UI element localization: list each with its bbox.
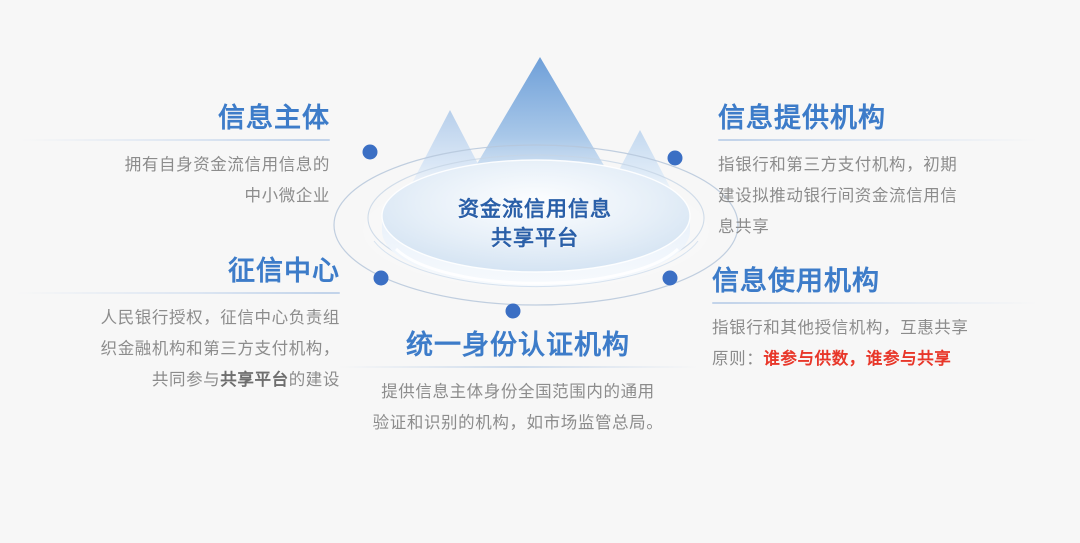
section-information-provider: 信息提供机构 指银行和第三方支付机构，初期 建设拟推动银行间资金流信用信 息共享 <box>718 103 1038 242</box>
section-body-information-subject: 拥有自身资金流信用信息的 中小微企业 <box>20 149 330 211</box>
body-line: 息共享 <box>718 211 1038 242</box>
infographic-canvas: 资金流信用信息 共享平台 信息主体 拥有自身资金流信用信息的 中小微企业 征信中… <box>0 0 1080 543</box>
heading-underline <box>338 366 698 368</box>
orbit-node <box>374 271 389 286</box>
body-line: 原则：谁参与供数，谁参与共享 <box>712 343 1038 374</box>
section-unified-identity-authentication: 统一身份认证机构 提供信息主体身份全国范围内的通用 验证和识别的机构，如市场监管… <box>338 330 698 438</box>
section-information-user: 信息使用机构 指银行和其他授信机构，互惠共享 原则：谁参与供数，谁参与共享 <box>712 266 1038 374</box>
platform-title-line2: 共享平台 <box>300 224 770 253</box>
section-body-information-provider: 指银行和第三方支付机构，初期 建设拟推动银行间资金流信用信 息共享 <box>718 149 1038 242</box>
section-information-subject: 信息主体 拥有自身资金流信用信息的 中小微企业 <box>20 103 330 211</box>
section-heading-unified-identity-authentication: 统一身份认证机构 <box>338 330 698 361</box>
platform-title-line1: 资金流信用信息 <box>458 198 612 221</box>
body-line: 指银行和第三方支付机构，初期 <box>718 149 1038 180</box>
section-body-unified-identity-authentication: 提供信息主体身份全国范围内的通用 验证和识别的机构，如市场监管总局。 <box>338 376 698 438</box>
orbit-node <box>506 304 521 319</box>
body-text-segment: 的建设 <box>289 370 340 389</box>
orbit-node <box>668 151 683 166</box>
body-line: 指银行和其他授信机构，互惠共享 <box>712 312 1038 343</box>
body-line: 人民银行授权，征信中心负责组 <box>16 302 340 333</box>
section-heading-information-user: 信息使用机构 <box>712 266 1038 297</box>
body-line: 中小微企业 <box>20 180 330 211</box>
central-platform-graphic: 资金流信用信息 共享平台 <box>300 35 770 335</box>
section-body-information-user: 指银行和其他授信机构，互惠共享 原则：谁参与供数，谁参与共享 <box>712 312 1038 374</box>
body-line: 共同参与共享平台的建设 <box>16 364 340 395</box>
body-line: 提供信息主体身份全国范围内的通用 <box>338 376 698 407</box>
heading-underline <box>16 292 340 294</box>
platform-title: 资金流信用信息 共享平台 <box>300 195 770 254</box>
section-credit-reference-center: 征信中心 人民银行授权，征信中心负责组 织金融机构和第三方支付机构， 共同参与共… <box>16 256 340 395</box>
body-text-highlight: 谁参与供数，谁参与共享 <box>763 349 951 368</box>
body-text-emphasis: 共享平台 <box>220 370 288 389</box>
heading-underline <box>718 139 1038 141</box>
heading-underline <box>20 139 330 141</box>
body-line: 拥有自身资金流信用信息的 <box>20 149 330 180</box>
section-heading-credit-reference-center: 征信中心 <box>16 256 340 287</box>
body-text-segment: 共同参与 <box>152 370 220 389</box>
heading-underline <box>712 302 1038 304</box>
platform-illustration <box>300 35 770 335</box>
orbit-node <box>663 271 678 286</box>
section-body-credit-reference-center: 人民银行授权，征信中心负责组 织金融机构和第三方支付机构， 共同参与共享平台的建… <box>16 302 340 395</box>
body-text-segment: 原则： <box>712 349 763 368</box>
body-line: 验证和识别的机构，如市场监管总局。 <box>338 407 698 438</box>
orbit-node <box>363 145 378 160</box>
section-heading-information-provider: 信息提供机构 <box>718 103 1038 134</box>
body-line: 织金融机构和第三方支付机构， <box>16 333 340 364</box>
body-line: 建设拟推动银行间资金流信用信 <box>718 180 1038 211</box>
section-heading-information-subject: 信息主体 <box>20 103 330 134</box>
